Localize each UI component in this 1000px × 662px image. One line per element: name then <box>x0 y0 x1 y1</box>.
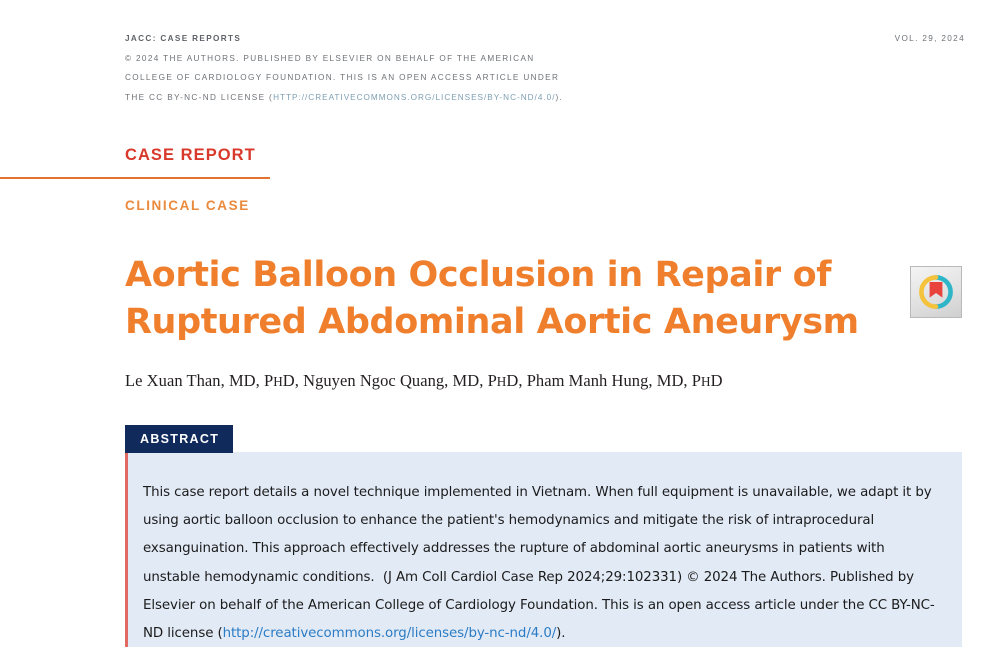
header-copyright-block: JACC: CASE REPORTS © 2024 THE AUTHORS. P… <box>125 29 563 107</box>
license-prefix: THE CC BY-NC-ND LICENSE ( <box>125 93 273 102</box>
author-list: Le Xuan Than, MD, PhD, Nguyen Ngoc Quang… <box>125 370 925 393</box>
section-subkicker: CLINICAL CASE <box>125 197 1000 215</box>
license-line: THE CC BY-NC-ND LICENSE (http://creative… <box>125 88 563 108</box>
section-kicker: CASE REPORT <box>125 145 1000 165</box>
title-block: Aortic Balloon Occlusion in Repair of Ru… <box>125 252 885 346</box>
abstract-body-text: This case report details a novel techniq… <box>143 485 935 641</box>
journal-name: JACC: CASE REPORTS <box>125 29 563 49</box>
abstract-label: ABSTRACT <box>125 425 233 453</box>
running-header: JACC: CASE REPORTS © 2024 THE AUTHORS. P… <box>125 29 965 107</box>
section-divider-rule <box>0 177 270 179</box>
copyright-line-1: © 2024 THE AUTHORS. PUBLISHED BY ELSEVIE… <box>125 49 563 69</box>
abstract-body: This case report details a novel techniq… <box>143 479 943 648</box>
crossmark-icon <box>918 274 954 310</box>
abstract-license-link[interactable]: http://creativecommons.org/licenses/by-n… <box>223 626 557 641</box>
article-first-page: JACC: CASE REPORTS © 2024 THE AUTHORS. P… <box>0 0 1000 662</box>
header-license-link[interactable]: http://creativecommons.org/licenses/by-n… <box>273 93 555 102</box>
crossmark-logo[interactable] <box>910 266 962 318</box>
abstract-body-suffix: ). <box>556 626 565 641</box>
license-suffix: ). <box>555 93 563 102</box>
article-title: Aortic Balloon Occlusion in Repair of Ru… <box>125 252 885 346</box>
copyright-line-2: COLLEGE OF CARDIOLOGY FOUNDATION. THIS I… <box>125 68 563 88</box>
section-header: CASE REPORT CLINICAL CASE <box>0 145 1000 215</box>
volume-year: VOL. 29, 2024 <box>895 29 965 49</box>
